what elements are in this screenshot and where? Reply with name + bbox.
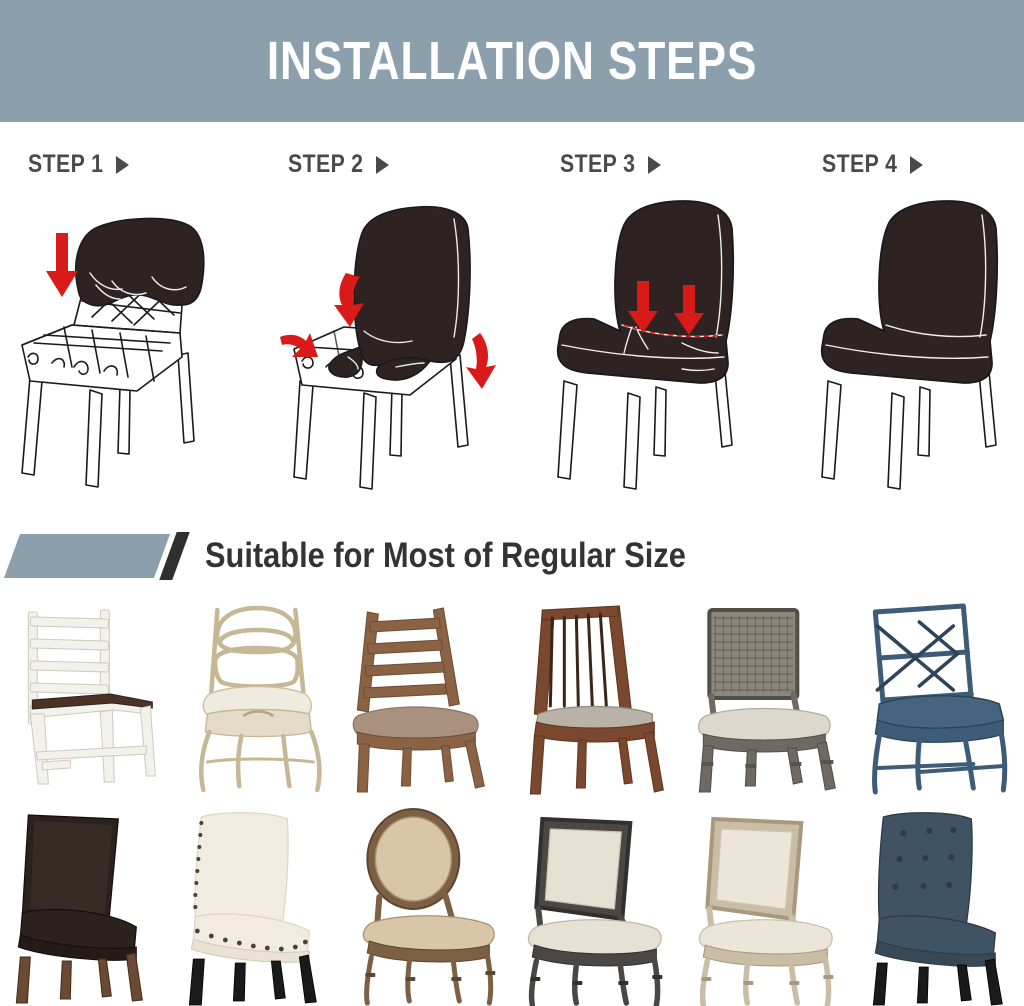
red-arrow <box>280 333 318 357</box>
chair-teal-tufted-parsons <box>853 801 1024 1006</box>
chair-antique-french-carved <box>171 596 342 801</box>
step-label-3: STEP 3 <box>560 150 661 179</box>
step-label-4: STEP 4 <box>822 150 923 179</box>
banner-title: Suitable for Most of Regular Size <box>205 530 686 582</box>
chair-brown-ladder-back <box>341 596 512 801</box>
chair-gallery <box>0 596 1024 1006</box>
section-banner: Suitable for Most of Regular Size <box>0 528 1024 590</box>
chair-dark-square-back-french <box>512 801 683 1006</box>
gallery-row-2 <box>0 801 1024 1006</box>
chair-beige-oval-back <box>341 801 512 1006</box>
chair-blue-lattice-back <box>853 596 1024 801</box>
step-label-1-text: STEP 1 <box>28 150 103 179</box>
step-label-2: STEP 2 <box>288 150 389 179</box>
step-illustration-2 <box>268 185 518 495</box>
play-triangle-icon <box>116 156 129 174</box>
step-illustration-3 <box>532 185 782 495</box>
infographic-page: INSTALLATION STEPS STEP 1 STEP 2 STEP 3 … <box>0 0 1024 1006</box>
chair-weathered-oak-square-back <box>683 801 854 1006</box>
step-label-1: STEP 1 <box>28 150 129 179</box>
step-illustration-4 <box>796 185 1024 495</box>
gallery-row-1 <box>0 596 1024 801</box>
banner-parallelogram <box>4 534 170 578</box>
play-triangle-icon <box>648 156 661 174</box>
play-triangle-icon <box>376 156 389 174</box>
red-arrow <box>466 333 496 389</box>
step-illustration-1 <box>12 185 262 495</box>
step-label-3-text: STEP 3 <box>560 150 635 179</box>
chair-dark-leather-parsons <box>0 801 171 1006</box>
installation-steps-row <box>0 185 1024 495</box>
chair-gray-cane-back <box>683 596 854 801</box>
step-label-4-text: STEP 4 <box>822 150 897 179</box>
play-triangle-icon <box>910 156 923 174</box>
red-arrow <box>46 233 78 297</box>
chair-walnut-spindle-back <box>512 596 683 801</box>
header-band: INSTALLATION STEPS <box>0 0 1024 122</box>
chair-cream-nailhead <box>171 801 342 1006</box>
chair-white-ladder-back <box>0 596 171 801</box>
step-label-2-text: STEP 2 <box>288 150 363 179</box>
page-title: INSTALLATION STEPS <box>267 30 757 92</box>
